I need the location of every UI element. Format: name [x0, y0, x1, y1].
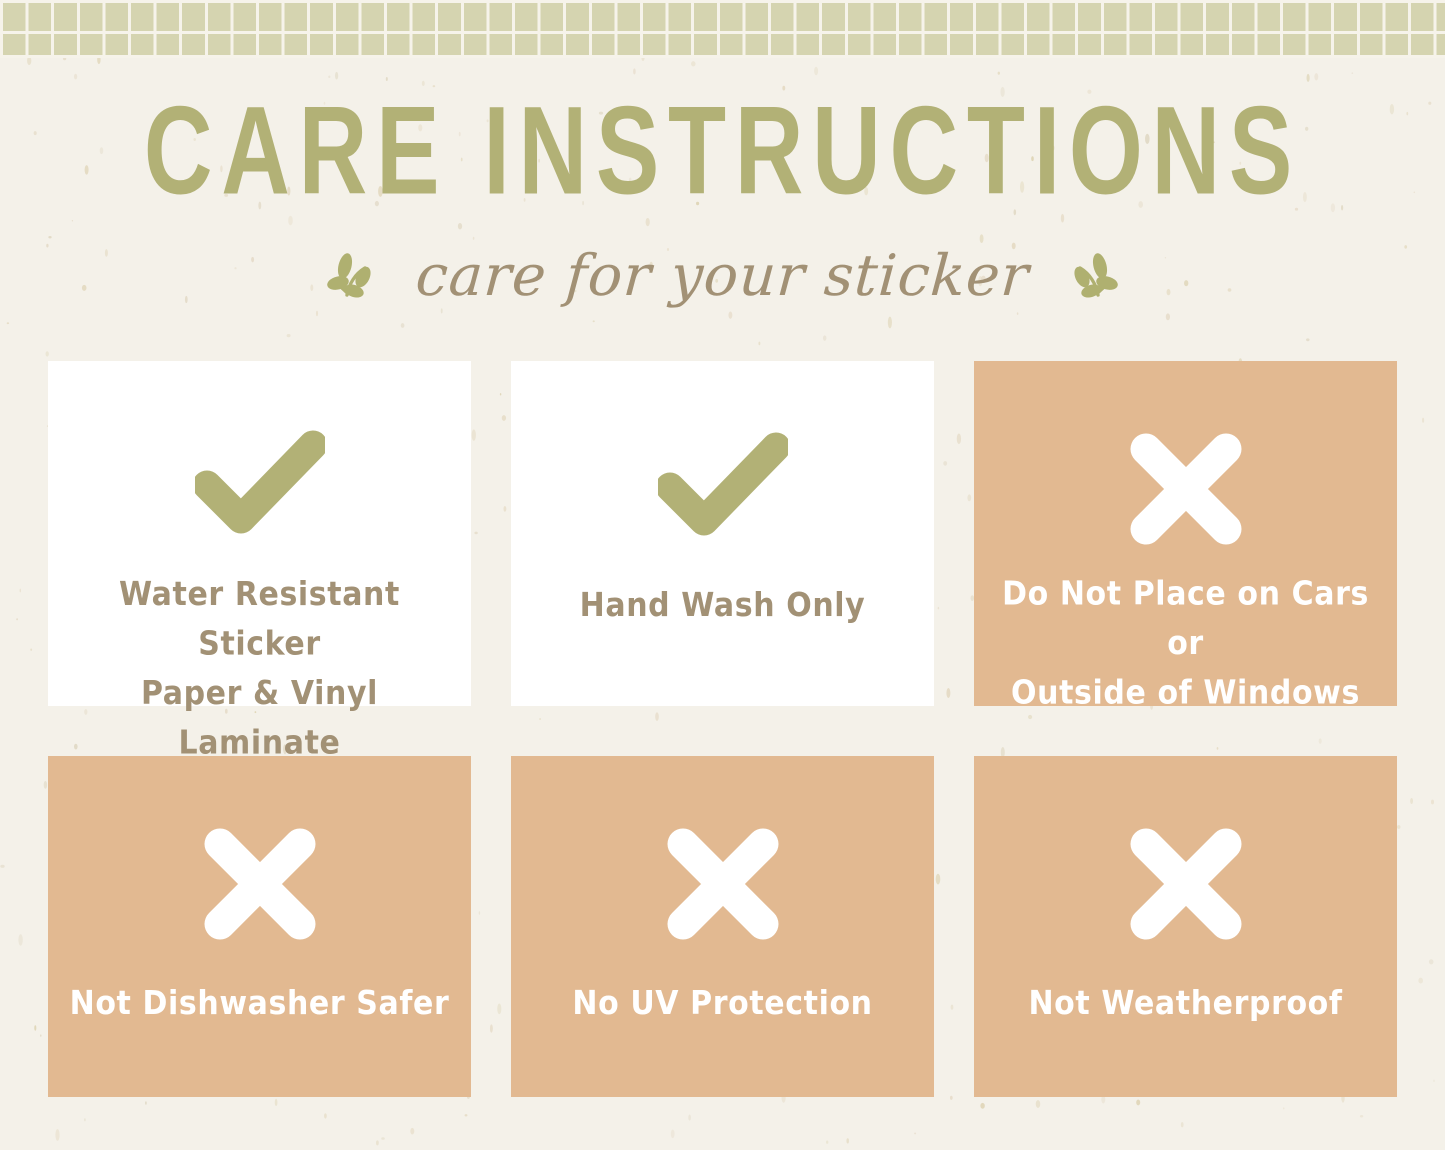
subtitle-row: care for your sticker	[0, 244, 1445, 308]
care-card-line: Paper & Vinyl Laminate	[64, 669, 455, 768]
care-card-label: Not Dishwasher Safer	[54, 979, 466, 1029]
care-card-label: Hand Wash Only	[564, 581, 882, 631]
care-card-label: No UV Protection	[556, 979, 888, 1029]
cross-icon-wrap	[1128, 431, 1244, 546]
check-icon-wrap	[658, 429, 788, 541]
care-card-water-resistant: Water Resistant StickerPaper & Vinyl Lam…	[48, 361, 471, 706]
care-card-no-uv-protection: No UV Protection	[511, 756, 934, 1097]
cross-icon	[665, 826, 781, 942]
care-card-line: No UV Protection	[572, 979, 872, 1029]
check-icon	[195, 429, 325, 537]
care-card-line: Not Dishwasher Safer	[70, 979, 450, 1029]
care-card-no-cars-or-outside-windows: Do Not Place on Cars orOutside of Window…	[974, 361, 1397, 706]
cross-icon	[1128, 431, 1244, 547]
cross-icon-wrap	[665, 826, 781, 941]
header: CARE INSTRUCTIONS care for your sticker	[0, 86, 1445, 308]
cross-icon	[1128, 826, 1244, 942]
check-icon-wrap	[195, 429, 325, 537]
care-card-label: Water Resistant StickerPaper & Vinyl Lam…	[48, 570, 471, 768]
care-card-line: Outside of Windows	[990, 668, 1381, 718]
care-instruction-grid: Water Resistant StickerPaper & Vinyl Lam…	[48, 361, 1397, 1097]
cross-icon	[202, 826, 318, 942]
cross-icon-wrap	[202, 826, 318, 941]
care-card-not-dishwasher-safe: Not Dishwasher Safer	[48, 756, 471, 1097]
leaf-sprig-icon	[1069, 250, 1123, 302]
cross-icon-wrap	[1128, 826, 1244, 941]
page-subtitle: care for your sticker	[414, 244, 1032, 308]
care-card-label: Do Not Place on Cars orOutside of Window…	[974, 569, 1397, 718]
care-card-line: Hand Wash Only	[580, 581, 866, 631]
care-card-label: Not Weatherproof	[1012, 979, 1358, 1029]
care-card-not-weatherproof: Not Weatherproof	[974, 756, 1397, 1097]
care-card-line: Not Weatherproof	[1028, 979, 1342, 1029]
top-grid-band	[0, 0, 1445, 55]
care-card-line: Water Resistant Sticker	[64, 570, 455, 669]
top-grid-band-edge	[0, 55, 1445, 58]
care-card-hand-wash-only: Hand Wash Only	[511, 361, 934, 706]
check-icon	[658, 431, 788, 539]
care-card-line: Do Not Place on Cars or	[990, 569, 1381, 668]
leaf-sprig-icon	[322, 250, 376, 302]
page-title: CARE INSTRUCTIONS	[22, 86, 1424, 214]
